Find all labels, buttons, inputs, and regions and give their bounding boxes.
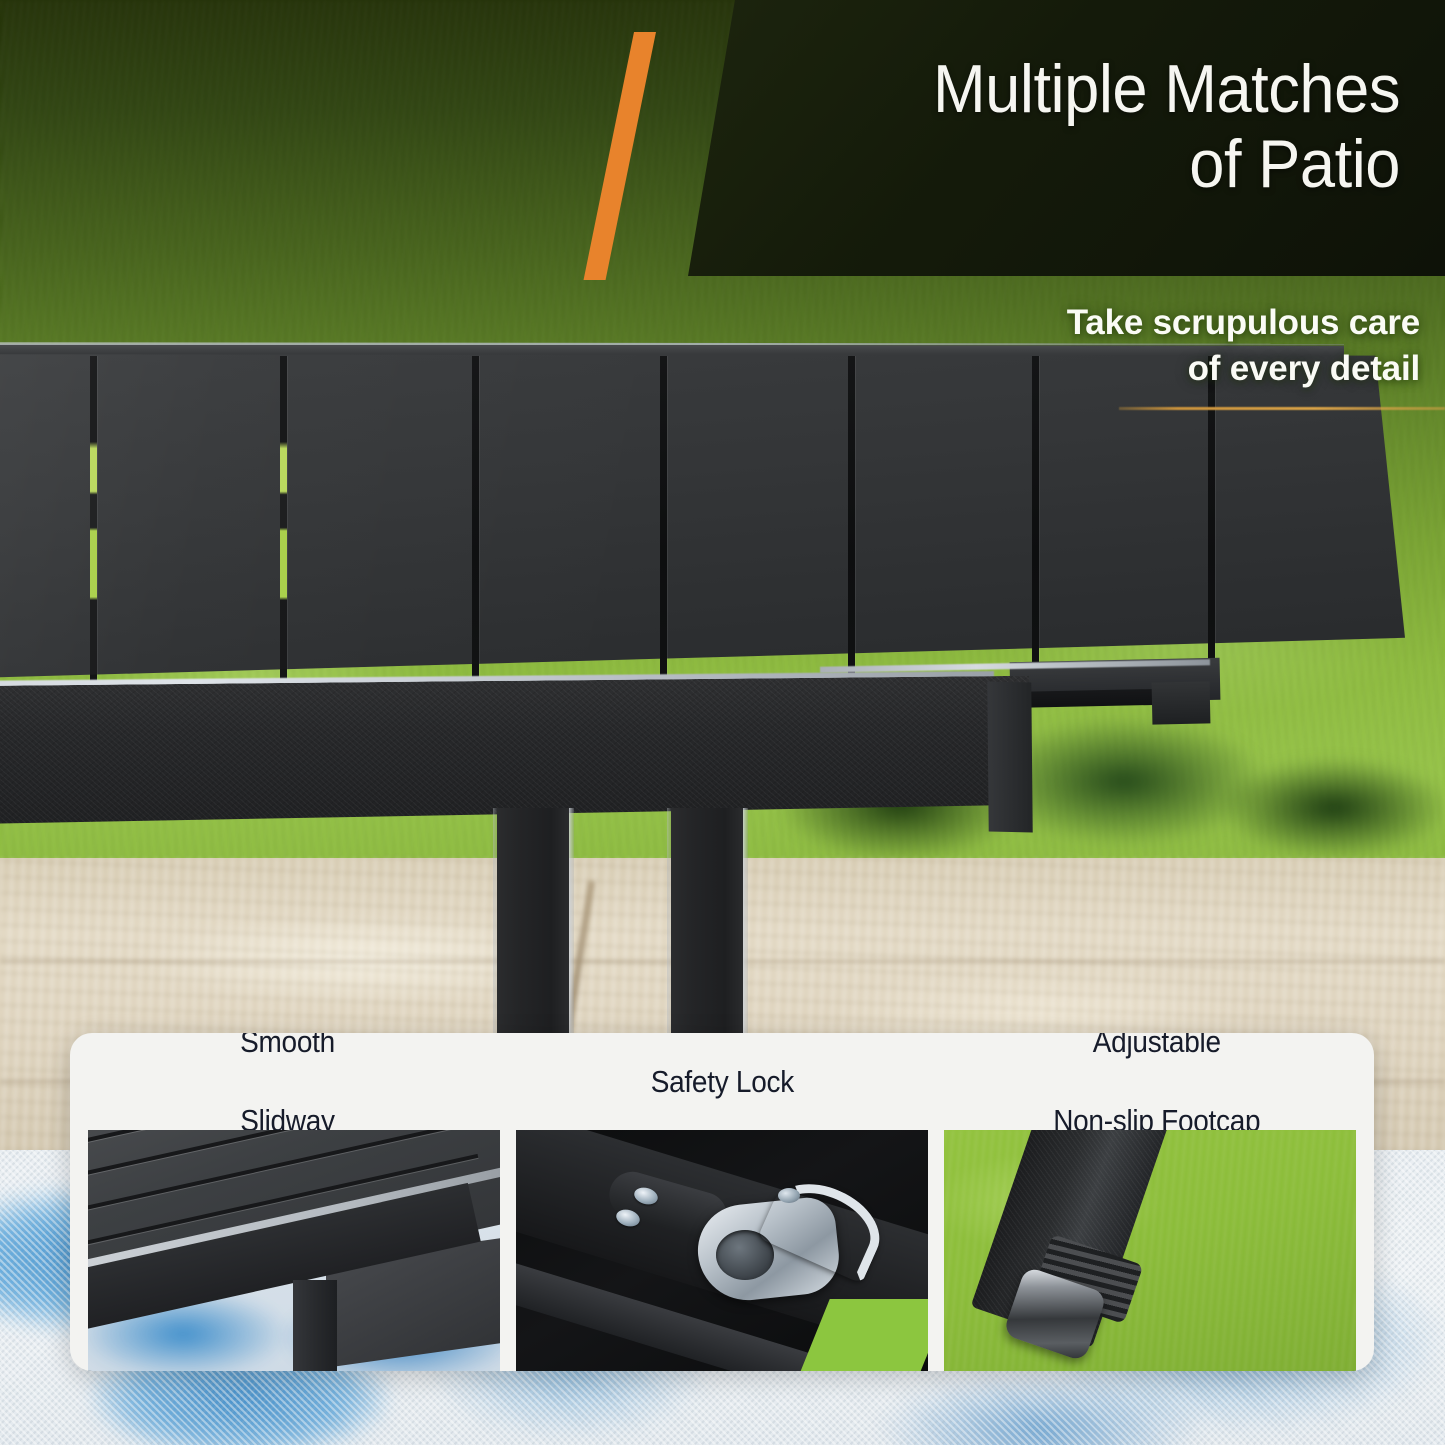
screw-icon xyxy=(778,1188,800,1203)
feature-label-adjustable-footcap: Adjustable Non-slip Footcap xyxy=(939,1033,1374,1130)
subtitle-line-1: Take scrupulous care xyxy=(880,300,1420,346)
title-line-2: of Patio xyxy=(749,127,1400,202)
feature-label-text: Safety Lock xyxy=(647,1062,798,1102)
patio-table xyxy=(0,330,1445,1070)
table-apron-texture xyxy=(0,676,1031,828)
feature-thumbnail-safety-lock xyxy=(516,1130,928,1371)
feature-labels-row: Smooth Slidway Safety Lock Adjustable No… xyxy=(70,1033,1374,1130)
feature-label-smooth-slidway: Smooth Slidway xyxy=(70,1033,505,1130)
feature-thumbnail-smooth-slidway xyxy=(88,1130,500,1371)
page-title: Multiple Matches of Patio xyxy=(749,52,1400,202)
product-feature-image: Multiple Matches of Patio Take scrupulou… xyxy=(0,0,1445,1445)
tabletop-slat-gap xyxy=(88,1130,500,1145)
feature-label-safety-lock: Safety Lock xyxy=(505,1033,940,1130)
feature-label-line-1: Adjustable xyxy=(1053,1033,1260,1062)
feature-panel: Smooth Slidway Safety Lock Adjustable No… xyxy=(70,1033,1374,1371)
feature-thumbnail-adjustable-footcap xyxy=(944,1130,1356,1371)
feature-label-line-1: Smooth xyxy=(240,1033,335,1062)
subtitle: Take scrupulous care of every detail xyxy=(880,300,1420,391)
table-corner-cap xyxy=(1152,681,1211,724)
feature-label-text: Smooth Slidway xyxy=(237,1033,337,1141)
feature-thumbnails-row xyxy=(70,1130,1374,1371)
title-line-1: Multiple Matches xyxy=(749,52,1400,127)
tabletop-slat-gap xyxy=(88,1130,500,1178)
table-apron-end-cap xyxy=(987,681,1032,832)
subtitle-divider-rule xyxy=(1119,407,1445,410)
subtitle-line-2: of every detail xyxy=(880,346,1420,392)
table-leg xyxy=(293,1280,337,1371)
feature-label-text: Adjustable Non-slip Footcap xyxy=(1048,1033,1266,1141)
tabletop-sheen xyxy=(0,354,1405,684)
feature-label-line-1: Safety Lock xyxy=(650,1062,793,1102)
